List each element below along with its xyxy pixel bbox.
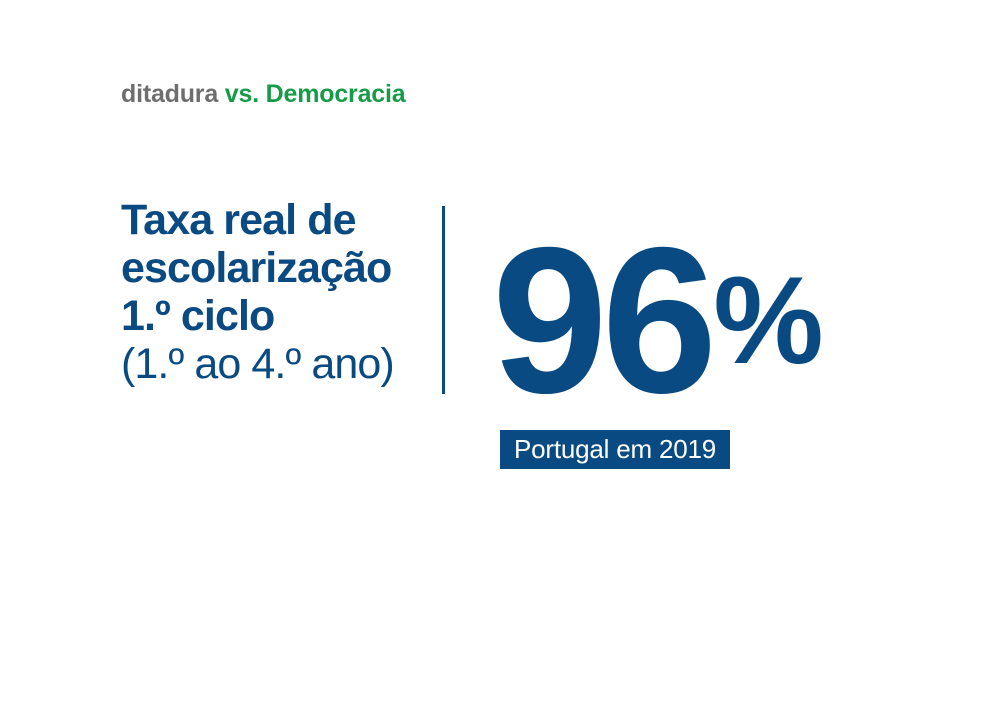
kicker-comparison-label: vs. Democracia	[225, 80, 406, 108]
statistic-badge: Portugal em 2019	[500, 430, 730, 469]
infographic-canvas: ditadura vs. Democracia Taxa real de esc…	[0, 0, 992, 723]
vertical-divider	[442, 206, 445, 394]
statistic-title-line-3: 1.º ciclo	[121, 292, 431, 340]
kicker-regime-label: ditadura	[121, 80, 225, 108]
statistic-figure: 96%	[492, 196, 821, 396]
statistic-title-line-2: escolarização	[121, 244, 431, 292]
section-kicker: ditadura vs. Democracia	[121, 79, 405, 109]
statistic-title-line-4: (1.º ao 4.º ano)	[121, 340, 431, 388]
statistic-title-line-1: Taxa real de	[121, 196, 431, 244]
statistic-card: Taxa real de escolarização 1.º ciclo (1.…	[121, 196, 881, 486]
statistic-figure-unit: %	[713, 246, 820, 396]
statistic-title: Taxa real de escolarização 1.º ciclo (1.…	[121, 196, 431, 388]
statistic-figure-value: 96	[492, 246, 711, 396]
